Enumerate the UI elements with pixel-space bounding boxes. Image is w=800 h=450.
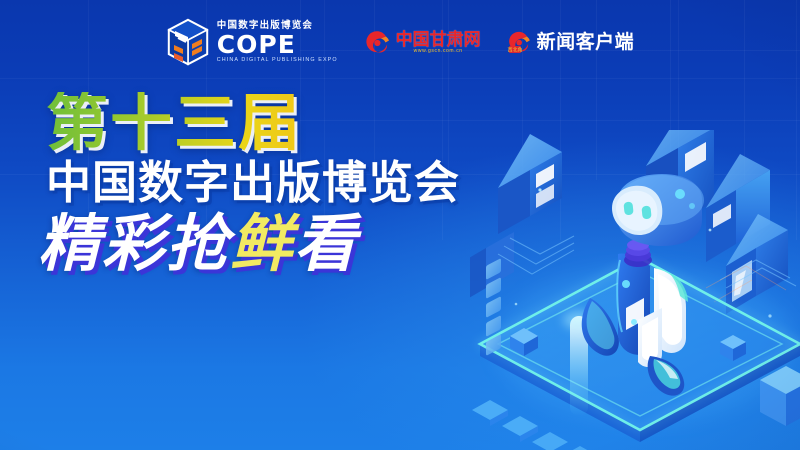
spiral-s-icon: 西北角 <box>507 30 532 55</box>
tagline: 精彩抢鲜看 <box>38 213 566 275</box>
headline-block: 第十三届 中国数字出版博览会 精彩抢鲜看 <box>46 92 566 275</box>
gansu-net-name: 中国甘肃网 <box>396 31 481 48</box>
tagline-part-2: 看 <box>294 207 358 280</box>
tagline-part-1: 精彩抢 <box>38 207 230 280</box>
edition-title: 第十三届 <box>46 92 566 154</box>
tagline-highlight: 鲜 <box>230 207 294 280</box>
news-client-name: 新闻客户端 <box>537 33 635 52</box>
cube-logo-icon <box>166 18 210 66</box>
stacked-bars-decoration <box>486 262 502 356</box>
promo-banner: 中国数字出版博览会 COPE CHINA DIGITAL PUBLISHING … <box>0 0 800 450</box>
expo-title: 中国数字出版博览会 <box>46 160 566 205</box>
cope-logo[interactable]: 中国数字出版博览会 COPE CHINA DIGITAL PUBLISHING … <box>166 18 338 66</box>
gansu-net-logo[interactable]: 中国甘肃网 www.gscn.com.cn <box>364 29 481 56</box>
gansu-net-url: www.gscn.com.cn <box>414 49 463 54</box>
cope-wordmark: COPE <box>217 32 338 57</box>
spiral-c-icon <box>364 29 391 56</box>
header-logo-strip: 中国数字出版博览会 COPE CHINA DIGITAL PUBLISHING … <box>0 14 800 70</box>
news-client-logo[interactable]: 西北角 新闻客户端 <box>507 30 635 55</box>
svg-text:西北角: 西北角 <box>507 46 522 53</box>
cope-english-name: CHINA DIGITAL PUBLISHING EXPO <box>217 58 338 63</box>
